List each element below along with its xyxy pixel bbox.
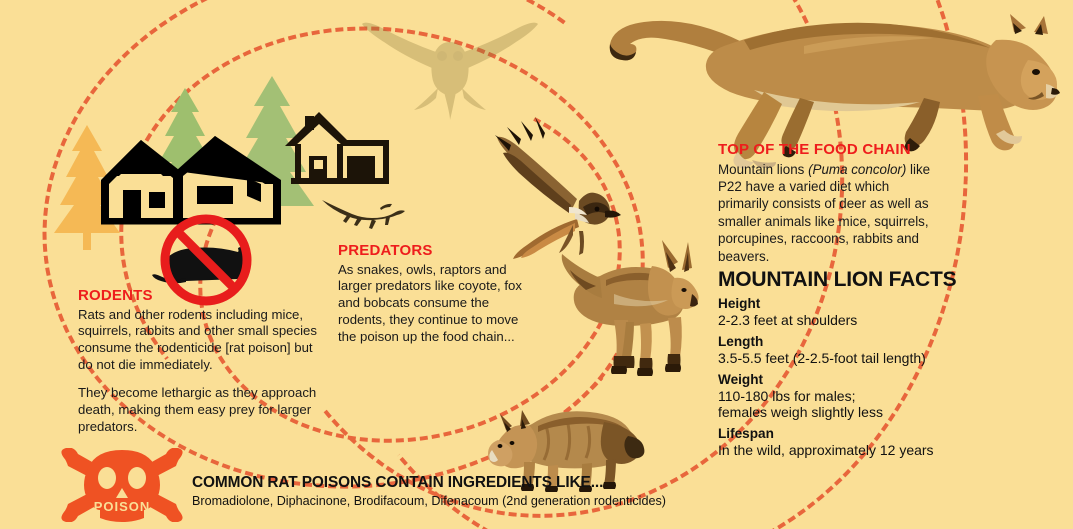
fact-value-height: 2-2.3 feet at shoulders — [718, 312, 980, 329]
common-poisons-title: COMMON RAT POISONS CONTAIN INGREDIENTS L… — [192, 474, 712, 492]
lizard-icon — [322, 196, 406, 230]
mountain-lion-facts-section: MOUNTAIN LION FACTS Height 2-2.3 feet at… — [718, 268, 980, 464]
owl-flying-icon — [360, 8, 540, 126]
top-of-food-chain-paragraph: Mountain lions (Puma concolor) like P22 … — [718, 161, 934, 266]
fact-key-weight: Weight — [718, 372, 980, 388]
rodents-paragraph-2: They become lethargic as they approach d… — [78, 385, 330, 436]
predators-paragraph-1: As snakes, owls, raptors and larger pred… — [338, 262, 534, 346]
poison-label: POISON — [94, 499, 151, 514]
rodents-paragraph-1: Rats and other rodents including mice, s… — [78, 307, 330, 375]
species-latin-name: (Puma concolor) — [808, 162, 906, 177]
fact-key-height: Height — [718, 296, 980, 312]
poison-skull-icon: POISON — [58, 448, 186, 522]
rodents-heading: RODENTS — [78, 288, 330, 305]
fact-key-length: Length — [718, 334, 980, 350]
common-poisons-subtitle: Bromadiolone, Diphacinone, Brodifacoum, … — [192, 494, 712, 508]
fact-value-lifespan: In the wild, approximately 12 years — [718, 442, 980, 459]
fact-value-length: 3.5-5.5 feet (2-2.5-foot tail length) — [718, 350, 980, 367]
food-chain-text-before: Mountain lions — [718, 162, 808, 177]
facts-title: MOUNTAIN LION FACTS — [718, 268, 980, 292]
coyote-icon — [556, 232, 700, 388]
predators-section: PREDATORS As snakes, owls, raptors and l… — [338, 243, 534, 346]
common-poisons-section: COMMON RAT POISONS CONTAIN INGREDIENTS L… — [192, 474, 712, 508]
predators-heading: PREDATORS — [338, 243, 534, 260]
rodents-section: RODENTS Rats and other rodents including… — [78, 288, 330, 436]
fact-key-lifespan: Lifespan — [718, 426, 980, 442]
fact-value-weight-line-2: females weigh slightly less — [718, 404, 980, 421]
fact-value-weight-line-1: 110-180 lbs for males; — [718, 388, 980, 405]
infographic-canvas: POISON RODENTS Rats and other rodents in… — [0, 0, 1073, 529]
top-of-food-chain-section: TOP OF THE FOOD CHAIN Mountain lions (Pu… — [718, 142, 934, 265]
top-of-food-chain-heading: TOP OF THE FOOD CHAIN — [718, 142, 934, 159]
fact-value-weight: 110-180 lbs for males; females weigh sli… — [718, 388, 980, 422]
